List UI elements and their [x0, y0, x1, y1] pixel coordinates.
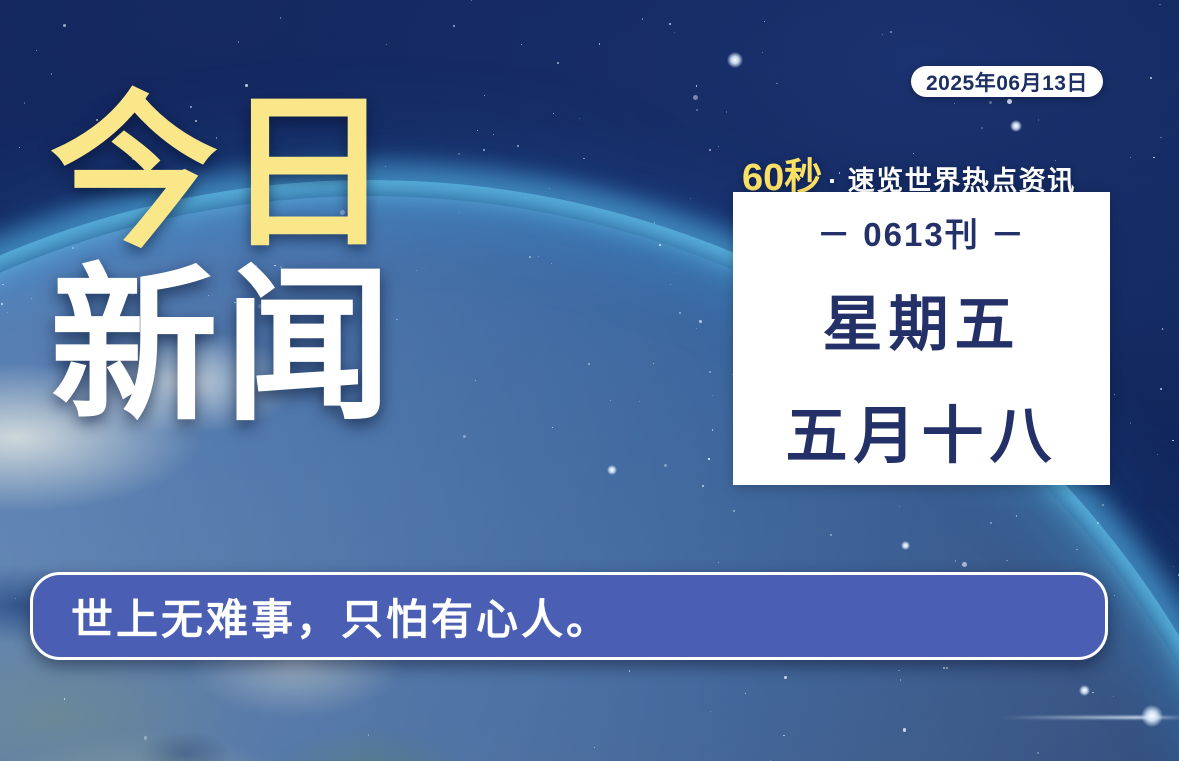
- quote-text: 世上无难事，只怕有心人。: [71, 586, 611, 647]
- star-dot: [1159, 4, 1160, 5]
- star-dot: [471, 0, 472, 1]
- star-dot: [699, 320, 702, 323]
- star-dot: [639, 401, 640, 402]
- star-dot: [696, 328, 697, 329]
- star-dot: [890, 31, 892, 33]
- star-dot: [830, 534, 832, 536]
- star-dot: [712, 395, 713, 396]
- star-dot: [588, 363, 590, 365]
- star-dot: [525, 197, 526, 198]
- star-dot: [1113, 696, 1114, 697]
- star-dot: [733, 510, 734, 511]
- star-dot: [712, 429, 713, 430]
- star-dot: [784, 676, 787, 679]
- star-dot: [1162, 328, 1163, 329]
- star-dot: [238, 41, 239, 42]
- star-dot: [718, 562, 719, 563]
- star-dot: [690, 198, 691, 199]
- star-dot: [1097, 522, 1099, 524]
- star-dot: [903, 728, 906, 731]
- star-dot: [24, 102, 25, 103]
- star-dot: [674, 32, 675, 33]
- star-dot: [19, 147, 20, 148]
- star-dot: [696, 85, 697, 86]
- star-dot: [669, 23, 671, 25]
- star-dot: [493, 134, 494, 135]
- bright-star: [901, 541, 910, 550]
- star-dot: [762, 52, 763, 53]
- star-dot: [1038, 119, 1039, 120]
- star-dot: [1153, 157, 1154, 158]
- star-dot: [954, 103, 955, 104]
- star-dot: [776, 83, 777, 84]
- star-dot: [696, 109, 698, 111]
- star-dot: [1, 303, 3, 305]
- star-dot: [386, 44, 387, 45]
- star-dot: [599, 43, 600, 44]
- star-dot: [1114, 595, 1115, 596]
- title-line-news: 新闻: [50, 269, 398, 424]
- star-dot: [7, 312, 8, 313]
- star-dot: [1172, 440, 1173, 441]
- star-dot: [551, 263, 552, 264]
- bright-star: [1010, 120, 1022, 132]
- news-poster: 今日 新闻 2025年06月13日 60秒 · 速览世界热点资讯 － 0613刊…: [0, 0, 1179, 761]
- bright-star: [607, 465, 617, 475]
- star-dot: [484, 95, 485, 96]
- star-dot: [898, 670, 899, 671]
- star-dot: [654, 222, 655, 223]
- star-dot: [459, 212, 460, 213]
- star-dot: [670, 284, 671, 285]
- weekday-label: 星期五: [823, 276, 1021, 363]
- star-dot: [1102, 504, 1104, 506]
- star-dot: [483, 149, 485, 151]
- star-dot: [64, 698, 65, 699]
- star-dot: [708, 458, 709, 459]
- star-dot: [552, 427, 553, 428]
- star-dot: [664, 464, 667, 467]
- quote-banner: 世上无难事，只怕有心人。: [30, 572, 1108, 660]
- star-dot: [553, 113, 554, 114]
- star-dot: [1076, 549, 1077, 550]
- star-dot: [549, 188, 550, 189]
- star-dot: [1007, 99, 1012, 104]
- star-dot: [1006, 560, 1007, 561]
- star-dot: [1130, 422, 1131, 423]
- star-dot: [946, 667, 947, 668]
- star-dot: [989, 101, 992, 104]
- star-dot: [475, 380, 476, 381]
- date-badge-label: 2025年06月13日: [926, 67, 1088, 97]
- star-dot: [1037, 752, 1039, 754]
- star-dot: [726, 111, 727, 112]
- page-title: 今日 新闻: [50, 96, 398, 423]
- star-dot: [529, 256, 531, 258]
- star-dot: [517, 145, 519, 147]
- star-dot: [709, 149, 711, 151]
- star-dot: [1100, 70, 1101, 71]
- star-dot: [477, 130, 478, 131]
- star-dot: [783, 735, 784, 736]
- star-dot: [710, 711, 711, 712]
- star-dot: [15, 598, 16, 599]
- star-dot: [453, 25, 455, 27]
- star-dot: [745, 693, 746, 694]
- star-dot: [557, 62, 559, 64]
- star-dot: [579, 118, 580, 119]
- star-dot: [693, 95, 698, 100]
- star-dot: [463, 435, 466, 438]
- star-dot: [1114, 394, 1115, 395]
- star-dot: [990, 522, 991, 523]
- star-dot: [629, 670, 630, 671]
- bright-star: [1079, 685, 1090, 696]
- star-dot: [702, 485, 703, 486]
- star-dot: [764, 21, 765, 22]
- star-dot: [709, 371, 711, 373]
- issue-card: － 0613刊 － 星期五 五月十八: [733, 192, 1110, 485]
- star-dot: [368, 734, 369, 735]
- star-dot: [2, 284, 3, 285]
- star-dot: [943, 667, 945, 669]
- lens-flare-streak: [1000, 716, 1179, 719]
- star-dot: [594, 747, 595, 748]
- star-dot: [899, 506, 900, 507]
- star-dot: [1173, 566, 1174, 567]
- star-dot: [1092, 692, 1093, 693]
- star-dot: [659, 244, 661, 246]
- issue-number: － 0613刊 －: [817, 208, 1026, 256]
- star-dot: [718, 146, 719, 147]
- star-dot: [610, 400, 611, 401]
- star-dot: [679, 312, 681, 314]
- star-dot: [1130, 157, 1131, 158]
- star-dot: [981, 127, 983, 129]
- star-dot: [31, 298, 32, 299]
- title-line-today: 今日: [50, 96, 398, 251]
- star-dot: [521, 44, 522, 45]
- star-dot: [900, 679, 901, 680]
- star-dot: [1160, 388, 1162, 390]
- star-dot: [458, 153, 460, 155]
- star-dot: [280, 17, 281, 18]
- star-dot: [1157, 454, 1158, 455]
- star-dot: [36, 50, 37, 51]
- star-dot: [51, 73, 52, 74]
- star-dot: [653, 363, 654, 364]
- bright-star: [727, 52, 743, 68]
- lunar-date-label: 五月十八: [785, 385, 1057, 475]
- star-dot: [642, 18, 643, 19]
- star-dot: [882, 34, 883, 35]
- star-dot: [955, 560, 956, 561]
- star-dot: [583, 158, 584, 159]
- star-dot: [144, 736, 147, 739]
- star-dot: [1150, 77, 1152, 79]
- date-badge: 2025年06月13日: [911, 66, 1103, 97]
- star-dot: [538, 256, 539, 257]
- star-dot: [63, 24, 66, 27]
- star-dot: [416, 270, 417, 271]
- star-dot: [1160, 137, 1161, 138]
- star-dot: [1016, 515, 1017, 516]
- star-dot: [962, 562, 967, 567]
